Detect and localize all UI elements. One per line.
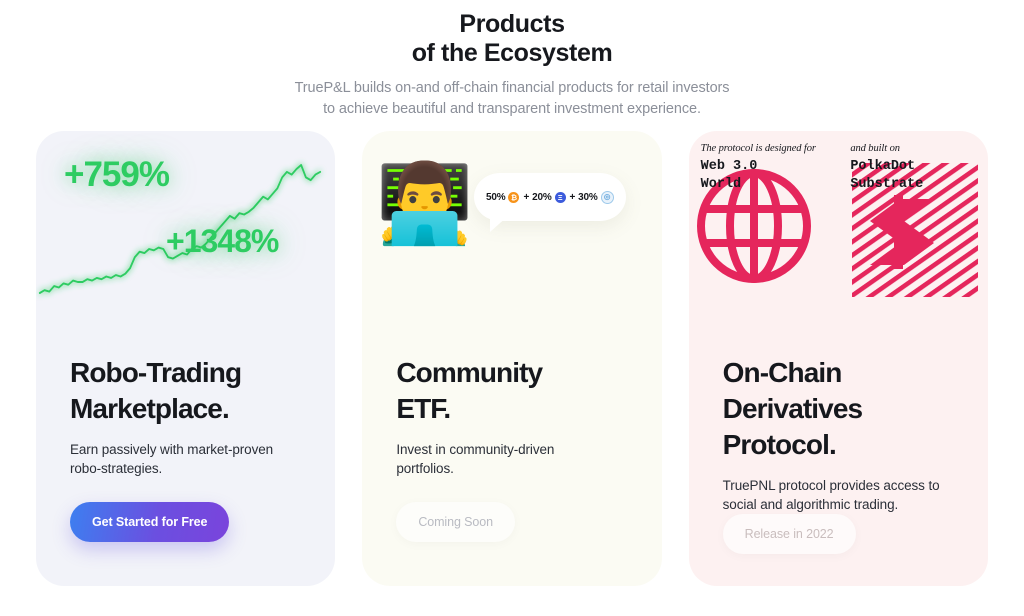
polkadot-label-line-2: Substrate [850, 176, 923, 194]
man-technologist-emoji-icon: 👨‍💻 [376, 159, 473, 249]
web3-label-line-2: World [701, 176, 758, 194]
allocation-1-percent: 50% [486, 192, 505, 203]
performance-badge-1: +759% [64, 155, 169, 195]
web3-label-line-1: Web 3.0 [701, 158, 758, 176]
polkadot-label-line-1: PolkaDot [850, 158, 923, 176]
allocation-text: 50% ₿ + 20% Ξ + 30% ◎ [486, 191, 615, 204]
page-title: Products of the Ecosystem [0, 10, 1024, 68]
coming-soon-button[interactable]: Coming Soon [396, 502, 515, 542]
product-card-robo-trading-marketplace[interactable]: +759% +1348% Robo-Trading Marketplace. E… [36, 131, 335, 586]
card-title: Community ETF. [396, 355, 627, 427]
section-header: Products of the Ecosystem TrueP&L builds… [0, 10, 1024, 120]
product-cards-row: +759% +1348% Robo-Trading Marketplace. E… [36, 131, 988, 586]
card-title-line-2: ETF. [396, 391, 627, 427]
ethereum-coin-icon: Ξ [555, 192, 566, 203]
card-description-line-2: portfolios. [396, 459, 627, 478]
card-art-community-allocation: 👨‍💻 50% ₿ + 20% Ξ + 30% ◎ [362, 131, 661, 311]
section-subtitle: TrueP&L builds on-and off-chain financia… [0, 78, 1024, 120]
page-title-line-1: Products [459, 10, 564, 38]
card-description-line-2: robo-strategies. [70, 459, 301, 478]
card-title-line-1: Community [396, 355, 627, 391]
card-title-line-2: Derivatives [723, 391, 954, 427]
card-description: TruePNL protocol provides access to soci… [723, 476, 954, 514]
card-description-line-1: Invest in community-driven [396, 440, 627, 459]
allocation-2-percent: 20% [532, 192, 551, 203]
card-description-line-1: Earn passively with market-proven [70, 440, 301, 459]
allocation-operator-1: + [523, 192, 529, 203]
release-in-2022-button[interactable]: Release in 2022 [723, 514, 856, 554]
performance-badge-2: +1348% [166, 223, 278, 260]
product-card-community-etf[interactable]: 👨‍💻 50% ₿ + 20% Ξ + 30% ◎ Co [362, 131, 661, 586]
card-body: Robo-Trading Marketplace. Earn passively… [36, 311, 335, 586]
card-title-line-1: On-Chain [723, 355, 954, 391]
ecosystem-products-section: Products of the Ecosystem TrueP&L builds… [0, 0, 1024, 616]
web3-caption: The protocol is designed for [701, 143, 816, 154]
card-body: On-Chain Derivatives Protocol. TruePNL p… [689, 311, 988, 586]
card-description-line-1: TruePNL protocol provides access to [723, 476, 954, 495]
polkadot-column: and built on PolkaDot Substrate [838, 131, 988, 311]
card-description: Invest in community-driven portfolios. [396, 440, 627, 478]
allocation-operator-2: + [570, 192, 576, 203]
section-subtitle-line-1: TrueP&L builds on-and off-chain financia… [0, 78, 1024, 99]
card-body: Community ETF. Invest in community-drive… [362, 311, 661, 586]
product-card-on-chain-derivatives-protocol[interactable]: The protocol is designed for Web 3.0 Wor… [689, 131, 988, 586]
speech-bubble: 50% ₿ + 20% Ξ + 30% ◎ [474, 173, 626, 221]
polkadot-label: PolkaDot Substrate [850, 158, 923, 194]
card-description-line-2: social and algorithmic trading. [723, 495, 954, 514]
card-title-line-3: Protocol. [723, 427, 954, 463]
altcoin-coin-icon: ◎ [601, 191, 614, 204]
section-subtitle-line-2: to achieve beautiful and transparent inv… [0, 99, 1024, 120]
bitcoin-coin-icon: ₿ [508, 192, 519, 203]
page-title-line-2: of the Ecosystem [0, 39, 1024, 68]
web3-label: Web 3.0 World [701, 158, 758, 194]
card-title: Robo-Trading Marketplace. [70, 355, 301, 427]
card-art-performance-chart: +759% +1348% [36, 131, 335, 311]
polkadot-caption: and built on [850, 143, 900, 154]
card-title-line-2: Marketplace. [70, 391, 301, 427]
card-title: On-Chain Derivatives Protocol. [723, 355, 954, 463]
web3-column: The protocol is designed for Web 3.0 Wor… [689, 131, 839, 311]
allocation-3-percent: 30% [578, 192, 597, 203]
card-title-line-1: Robo-Trading [70, 355, 301, 391]
card-description: Earn passively with market-proven robo-s… [70, 440, 301, 478]
get-started-button[interactable]: Get Started for Free [70, 502, 229, 542]
card-art-web3-polkadot: The protocol is designed for Web 3.0 Wor… [689, 131, 988, 311]
